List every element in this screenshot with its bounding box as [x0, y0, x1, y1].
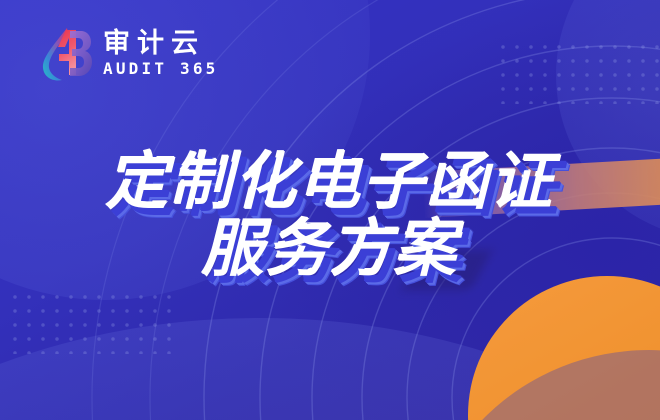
promo-banner: 审计云 AUDIT 365 定制化电子函证 服务方案: [0, 0, 660, 420]
headline-block: 定制化电子函证 服务方案: [0, 150, 660, 280]
brand-logo[interactable]: 审计云 AUDIT 365: [40, 25, 219, 83]
audit-cloud-ab-monogram-icon: [40, 25, 92, 83]
headline-line-2: 服务方案: [0, 217, 660, 280]
curved-light-band-bottom-left: [0, 318, 660, 420]
orange-circle-overlay-veil: [420, 350, 660, 420]
dot-grid-bottom-left: [6, 288, 172, 354]
brand-name-en: AUDIT 365: [103, 60, 219, 78]
headline-line-1: 定制化电子函证: [0, 150, 660, 213]
brand-name-cn: 审计云: [103, 30, 219, 58]
dot-grid-top-right: [494, 38, 660, 104]
orange-circle-bottom-right: [468, 276, 660, 420]
